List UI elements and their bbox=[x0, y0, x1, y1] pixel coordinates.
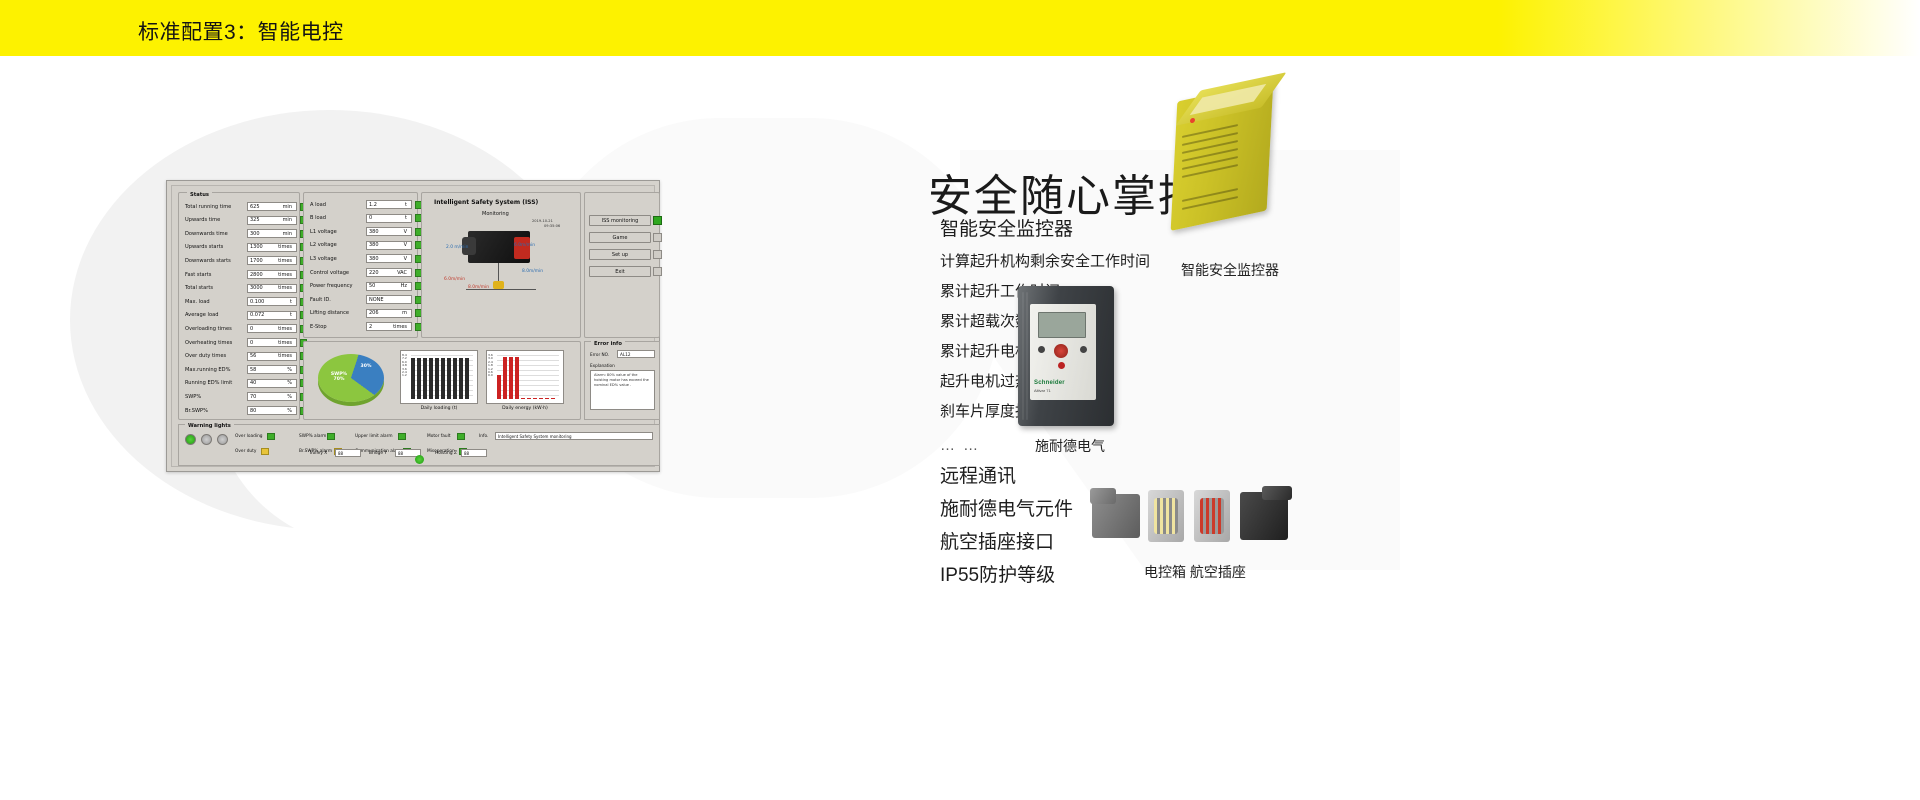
safety-relay-photo bbox=[1160, 82, 1300, 232]
feature-item: 累计超载次数 bbox=[940, 314, 1360, 329]
status-row-value: 40 bbox=[250, 380, 256, 386]
status-row-value: 625 bbox=[250, 204, 260, 210]
status-row-field[interactable]: 1700times bbox=[247, 256, 297, 265]
measure-row-field[interactable]: 1.2t bbox=[366, 200, 412, 209]
charts-group: SWP%70% 30% 8.47.26.04.83.62.41.2 Daily … bbox=[303, 341, 581, 420]
status-group: Status Total running time625minUpwards t… bbox=[178, 192, 300, 420]
daily-energy-yaxis: 3.63.02.41.81.20.60.0 bbox=[488, 354, 493, 378]
hmi-button[interactable]: Game bbox=[589, 232, 651, 243]
status-row-unit: min bbox=[283, 204, 292, 210]
measure-row-label: L3 voltage bbox=[310, 256, 366, 262]
measure-row-field[interactable]: 2times bbox=[366, 322, 412, 331]
status-row-field[interactable]: 0.100t bbox=[247, 297, 297, 306]
hmi-button[interactable]: Set up bbox=[589, 249, 651, 260]
measure-row-label: E-Stop bbox=[310, 324, 366, 330]
command-group: ISS monitoringGameSet upExit bbox=[584, 192, 660, 338]
measure-row-unit: m bbox=[402, 310, 407, 316]
speed-label: 6.0m/min bbox=[444, 277, 465, 282]
status-row-value: 3000 bbox=[250, 285, 263, 291]
status-row-label: Max.running ED% bbox=[185, 367, 247, 373]
status-row: Downwards time300min bbox=[185, 228, 307, 239]
chart-bar bbox=[465, 358, 469, 399]
schneider-vfd-photo: Schneider Altivar 71 bbox=[1010, 282, 1130, 432]
chart-bar bbox=[453, 358, 457, 399]
hmi-button[interactable]: ISS monitoring bbox=[589, 215, 651, 226]
connector-hood-grey-spout bbox=[1090, 488, 1116, 504]
connector-pins-a bbox=[1154, 498, 1178, 534]
measure-row-label: Fault ID. bbox=[310, 297, 366, 303]
vfd-button-stop[interactable] bbox=[1058, 362, 1065, 369]
status-row-unit: % bbox=[287, 408, 292, 414]
measure-row: A load1.2t bbox=[310, 199, 422, 210]
status-row: Average load0.072t bbox=[185, 310, 307, 321]
status-row-value: 80 bbox=[250, 408, 256, 414]
vfd-brand-text: Schneider bbox=[1034, 380, 1065, 386]
speed-label: 2.0 m/min bbox=[446, 245, 468, 250]
chart-bar bbox=[411, 358, 415, 399]
chart-bar bbox=[509, 357, 513, 399]
chart-bar bbox=[551, 398, 555, 399]
measure-row-field[interactable]: 380V bbox=[366, 227, 412, 236]
measure-row-label: A load bbox=[310, 202, 366, 208]
status-row-value: 300 bbox=[250, 231, 260, 237]
measure-row-value: 380 bbox=[369, 229, 379, 235]
product-caption-connectors: 电控箱 航空插座 bbox=[1090, 562, 1300, 582]
measure-row-value: 206 bbox=[369, 310, 379, 316]
pie-label-other: 30% bbox=[356, 364, 376, 369]
chart-bar bbox=[545, 398, 549, 399]
banner-title: 标准配置3：智能电控 bbox=[138, 16, 344, 46]
measure-row-field[interactable]: 50Hz bbox=[366, 282, 412, 291]
aviation-connectors-photo bbox=[1090, 486, 1300, 548]
measure-row-unit: V bbox=[404, 256, 407, 262]
status-row-unit: % bbox=[287, 367, 292, 373]
status-row-field[interactable]: 0times bbox=[247, 324, 297, 333]
status-row-label: Downwards time bbox=[185, 231, 247, 237]
speed-label: 8.0m/min bbox=[522, 269, 543, 274]
status-indicator-dot bbox=[415, 455, 424, 464]
measure-row-value: 0 bbox=[369, 215, 372, 221]
status-row-unit: times bbox=[278, 326, 292, 332]
measure-row-unit: V bbox=[404, 242, 407, 248]
monitoring-label: Monitoring bbox=[482, 211, 509, 217]
error-no-label: Error NO. bbox=[590, 352, 609, 357]
status-row-unit: % bbox=[287, 394, 292, 400]
chart-bar bbox=[447, 358, 451, 399]
warning-lights-group: Warning lights Over loadingOver dutySWP%… bbox=[178, 424, 660, 466]
chart-bar bbox=[417, 358, 421, 399]
status-row-label: Overheating times bbox=[185, 340, 247, 346]
measure-row-value: NONE bbox=[369, 297, 384, 303]
status-group-title: Status bbox=[187, 192, 212, 198]
status-row-label: Average load bbox=[185, 312, 247, 318]
hmi-button[interactable]: Exit bbox=[589, 266, 651, 277]
hoist-hook bbox=[493, 281, 504, 289]
status-row-value: 56 bbox=[250, 353, 256, 359]
daily-loading-yaxis: 8.47.26.04.83.62.41.2 bbox=[402, 354, 407, 378]
status-row-unit: times bbox=[278, 258, 292, 264]
hmi-screenshot-panel: Status Total running time625minUpwards t… bbox=[166, 180, 660, 472]
measure-row-unit: V bbox=[404, 229, 407, 235]
chart-bar bbox=[515, 357, 519, 399]
vfd-button-right[interactable] bbox=[1080, 346, 1087, 353]
feature-item: 累计起升电机启动次数 bbox=[940, 344, 1360, 359]
warning-item-led bbox=[261, 448, 269, 455]
measure-row-field[interactable]: 220VAC bbox=[366, 268, 412, 277]
status-row-unit: times bbox=[278, 340, 292, 346]
vfd-display[interactable] bbox=[1038, 312, 1086, 338]
hmi-clock: 09:35:06 bbox=[544, 224, 560, 228]
lamp-grey-2 bbox=[217, 434, 228, 445]
status-row-unit: min bbox=[283, 231, 292, 237]
status-row: Total starts3000times bbox=[185, 283, 307, 294]
chart-bar bbox=[441, 358, 445, 399]
status-row-field[interactable]: 300min bbox=[247, 229, 297, 238]
status-row-value: 58 bbox=[250, 367, 256, 373]
status-row-field[interactable]: 1300times bbox=[247, 243, 297, 252]
status-row: Br.SWP%80% bbox=[185, 405, 307, 416]
measure-row: L2 voltage380V bbox=[310, 240, 422, 251]
status-row-field[interactable]: 2800times bbox=[247, 270, 297, 279]
vfd-button-left[interactable] bbox=[1038, 346, 1045, 353]
axis-field-label: Hoisting Z bbox=[435, 451, 457, 456]
status-row-unit: t bbox=[290, 299, 292, 305]
status-row-label: Fast starts bbox=[185, 272, 247, 278]
status-row-unit: times bbox=[278, 244, 292, 250]
hmi-button-led bbox=[653, 250, 662, 259]
status-row-label: SWP% bbox=[185, 394, 247, 400]
status-row-field[interactable]: 325min bbox=[247, 216, 297, 225]
status-row-label: Running ED% limit bbox=[185, 380, 247, 386]
status-row-unit: t bbox=[290, 312, 292, 318]
feature-item: 起升电机过热保护及报警 bbox=[940, 374, 1360, 389]
axis-field-value[interactable]: 88 bbox=[461, 449, 487, 457]
hmi-date: 2019-10-21 bbox=[532, 219, 553, 223]
chart-bar bbox=[503, 357, 507, 399]
warning-item-label: SWP% alarm bbox=[299, 434, 326, 439]
monitor-group: Intelligent Safety System (ISS) Monitori… bbox=[421, 192, 581, 338]
status-row-value: 1300 bbox=[250, 244, 263, 250]
measure-row-unit: t bbox=[405, 215, 407, 221]
feature-item: 刹车片厚度报警 bbox=[940, 404, 1360, 419]
info-label: Info. bbox=[479, 434, 488, 439]
speed-label: 6.0m/min bbox=[514, 243, 535, 248]
measure-row-field[interactable]: 380V bbox=[366, 241, 412, 250]
pie-label-swp: SWP%70% bbox=[322, 372, 356, 382]
error-group-title: Error info bbox=[591, 341, 625, 347]
axis-field-label: Trolley X bbox=[309, 451, 327, 456]
status-row-label: Total starts bbox=[185, 285, 247, 291]
measure-row: B load0t bbox=[310, 213, 422, 224]
status-row: Upwards starts1300times bbox=[185, 242, 307, 253]
status-row: Fast starts2800times bbox=[185, 269, 307, 280]
status-row: Running ED% limit40% bbox=[185, 378, 307, 389]
hmi-button-led bbox=[653, 233, 662, 242]
hoist-rope bbox=[498, 263, 499, 283]
connector-hood-black-latch bbox=[1262, 486, 1292, 500]
status-row: Total running time625min bbox=[185, 201, 307, 212]
status-row-label: Upwards time bbox=[185, 217, 247, 223]
measure-row: L1 voltage380V bbox=[310, 226, 422, 237]
error-no-field[interactable]: AL12 bbox=[617, 350, 655, 358]
status-row-label: Br.SWP% bbox=[185, 408, 247, 414]
status-row-unit: min bbox=[283, 217, 292, 223]
status-row-value: 2800 bbox=[250, 272, 263, 278]
status-row-value: 0.072 bbox=[250, 312, 264, 318]
daily-energy-chart: 3.63.02.41.81.20.60.0 bbox=[486, 350, 564, 404]
warning-item-label: Over duty bbox=[235, 449, 256, 454]
status-row-field[interactable]: 40% bbox=[247, 379, 297, 388]
chart-bar bbox=[533, 398, 537, 399]
warning-item-led bbox=[327, 433, 335, 440]
status-row-unit: times bbox=[278, 272, 292, 278]
measure-row-label: Power frequency bbox=[310, 283, 366, 289]
status-row-field[interactable]: 625min bbox=[247, 202, 297, 211]
explanation-label: Explanation bbox=[590, 363, 615, 368]
product-caption-relay: 智能安全监控器 bbox=[1130, 260, 1330, 280]
status-row: Downwards starts1700times bbox=[185, 255, 307, 266]
measure-row-field[interactable]: 0t bbox=[366, 214, 412, 223]
status-row-label: Max. load bbox=[185, 299, 247, 305]
warning-item-led bbox=[398, 433, 406, 440]
status-row-field[interactable]: 56times bbox=[247, 352, 297, 361]
measure-row-field[interactable]: 380V bbox=[366, 254, 412, 263]
status-row-field[interactable]: 80% bbox=[247, 406, 297, 415]
vfd-model-text: Altivar 71 bbox=[1034, 388, 1051, 393]
iss-app-title: Intelligent Safety System (ISS) bbox=[434, 199, 538, 206]
measure-row-value: 380 bbox=[369, 242, 379, 248]
speed-label: 8.0m/min bbox=[468, 285, 489, 290]
status-row-value: 70 bbox=[250, 394, 256, 400]
daily-loading-chart: 8.47.26.04.83.62.41.2 bbox=[400, 350, 478, 404]
hmi-button-led bbox=[653, 267, 662, 276]
feature-item: 累计起升工作时间 bbox=[940, 284, 1360, 299]
status-row: Max. load0.100t bbox=[185, 296, 307, 307]
status-row-value: 0.100 bbox=[250, 299, 264, 305]
status-row-unit: times bbox=[278, 285, 292, 291]
measure-row-value: 220 bbox=[369, 270, 379, 276]
measure-row: Control voltage220VAC bbox=[310, 267, 422, 278]
hmi-button-led bbox=[653, 216, 662, 225]
warning-item-label: Over loading bbox=[235, 434, 263, 439]
status-row-label: Total running time bbox=[185, 204, 247, 210]
measure-row-label: Control voltage bbox=[310, 270, 366, 276]
daily-loading-caption: Daily loading (t) bbox=[400, 406, 478, 411]
vfd-fin-2 bbox=[1026, 292, 1028, 420]
status-row-field[interactable]: 0.072t bbox=[247, 311, 297, 320]
status-row: SWP%70% bbox=[185, 391, 307, 402]
measure-row-field[interactable]: 206m bbox=[366, 309, 412, 318]
hoist-drum bbox=[514, 237, 530, 259]
status-row-label: Over duty times bbox=[185, 353, 247, 359]
error-info-group: Error info Error NO. AL12 Explanation Al… bbox=[584, 341, 660, 420]
daily-energy-caption: Daily energy (kW·h) bbox=[486, 406, 564, 411]
measure-row: Fault ID.NONE bbox=[310, 294, 422, 305]
chart-bar bbox=[527, 398, 531, 399]
feature-item: 远程通讯 bbox=[940, 467, 1360, 486]
measure-row-unit: VAC bbox=[397, 270, 407, 276]
hmi-inner-frame: Status Total running time625minUpwards t… bbox=[171, 185, 655, 467]
status-row-label: Upwards starts bbox=[185, 244, 247, 250]
info-field: Intelligent Safety System monitoring bbox=[495, 432, 653, 440]
chart-bar bbox=[423, 358, 427, 399]
vfd-fin-1 bbox=[1022, 292, 1024, 420]
measure-row: E-Stop2times bbox=[310, 321, 422, 332]
measure-row-unit: times bbox=[393, 324, 407, 330]
status-row-label: Downwards starts bbox=[185, 258, 247, 264]
status-row: Max.running ED%58% bbox=[185, 364, 307, 375]
measure-row-label: B load bbox=[310, 215, 366, 221]
measure-row: Lifting distance206m bbox=[310, 308, 422, 319]
measure-row: L3 voltage380V bbox=[310, 253, 422, 264]
warning-item-led bbox=[267, 433, 275, 440]
top-banner: 标准配置3：智能电控 bbox=[0, 0, 1920, 56]
status-row-unit: % bbox=[287, 380, 292, 386]
status-row: Over duty times56times bbox=[185, 351, 307, 362]
axis-field-value[interactable]: 88 bbox=[335, 449, 361, 457]
measure-group: A load1.2tB load0tL1 voltage380VL2 volta… bbox=[303, 192, 418, 338]
status-row-value: 0 bbox=[250, 326, 253, 332]
lamp-green bbox=[185, 434, 196, 445]
chart-bar bbox=[435, 358, 439, 399]
warning-group-title: Warning lights bbox=[185, 423, 234, 429]
lamp-grey-1 bbox=[201, 434, 212, 445]
measure-row-unit: t bbox=[405, 202, 407, 208]
axis-field-label: Bridge Y bbox=[369, 451, 387, 456]
status-row: Overloading times0times bbox=[185, 323, 307, 334]
measure-row-label: L2 voltage bbox=[310, 242, 366, 248]
measure-row: Power frequency50Hz bbox=[310, 281, 422, 292]
warning-item-label: Motor fault bbox=[427, 434, 451, 439]
status-row-field[interactable]: 58% bbox=[247, 365, 297, 374]
status-row: Overheating times0times bbox=[185, 337, 307, 348]
chart-bar bbox=[539, 398, 543, 399]
vfd-navigation-knob[interactable] bbox=[1054, 344, 1068, 358]
measure-row-label: Lifting distance bbox=[310, 310, 366, 316]
product-caption-vfd: 施耐德电气 bbox=[1000, 436, 1140, 456]
measure-row-value: 380 bbox=[369, 256, 379, 262]
measure-row-value: 2 bbox=[369, 324, 372, 330]
status-row-value: 325 bbox=[250, 217, 260, 223]
measure-row-unit: Hz bbox=[401, 283, 407, 289]
warning-item-led bbox=[457, 433, 465, 440]
chart-bar bbox=[497, 375, 501, 399]
connector-pins-b bbox=[1200, 498, 1224, 534]
status-row-field[interactable]: 0times bbox=[247, 338, 297, 347]
warning-item-label: Upper limit alarm bbox=[355, 434, 393, 439]
status-row-unit: times bbox=[278, 353, 292, 359]
measure-row-label: L1 voltage bbox=[310, 229, 366, 235]
status-row-field[interactable]: 70% bbox=[247, 392, 297, 401]
status-row: Upwards time325min bbox=[185, 215, 307, 226]
status-row-field[interactable]: 3000times bbox=[247, 284, 297, 293]
chart-bar bbox=[521, 398, 525, 399]
measure-row-value: 50 bbox=[369, 283, 375, 289]
measure-row-value: 1.2 bbox=[369, 202, 377, 208]
status-row-value: 1700 bbox=[250, 258, 263, 264]
chart-bar bbox=[459, 358, 463, 399]
error-explanation-text: Alarm: 80% value of the hoisting motor h… bbox=[590, 370, 655, 410]
measure-row-field[interactable]: NONE bbox=[366, 295, 412, 304]
status-row-value: 0 bbox=[250, 340, 253, 346]
chart-bar bbox=[429, 358, 433, 399]
status-row-label: Overloading times bbox=[185, 326, 247, 332]
